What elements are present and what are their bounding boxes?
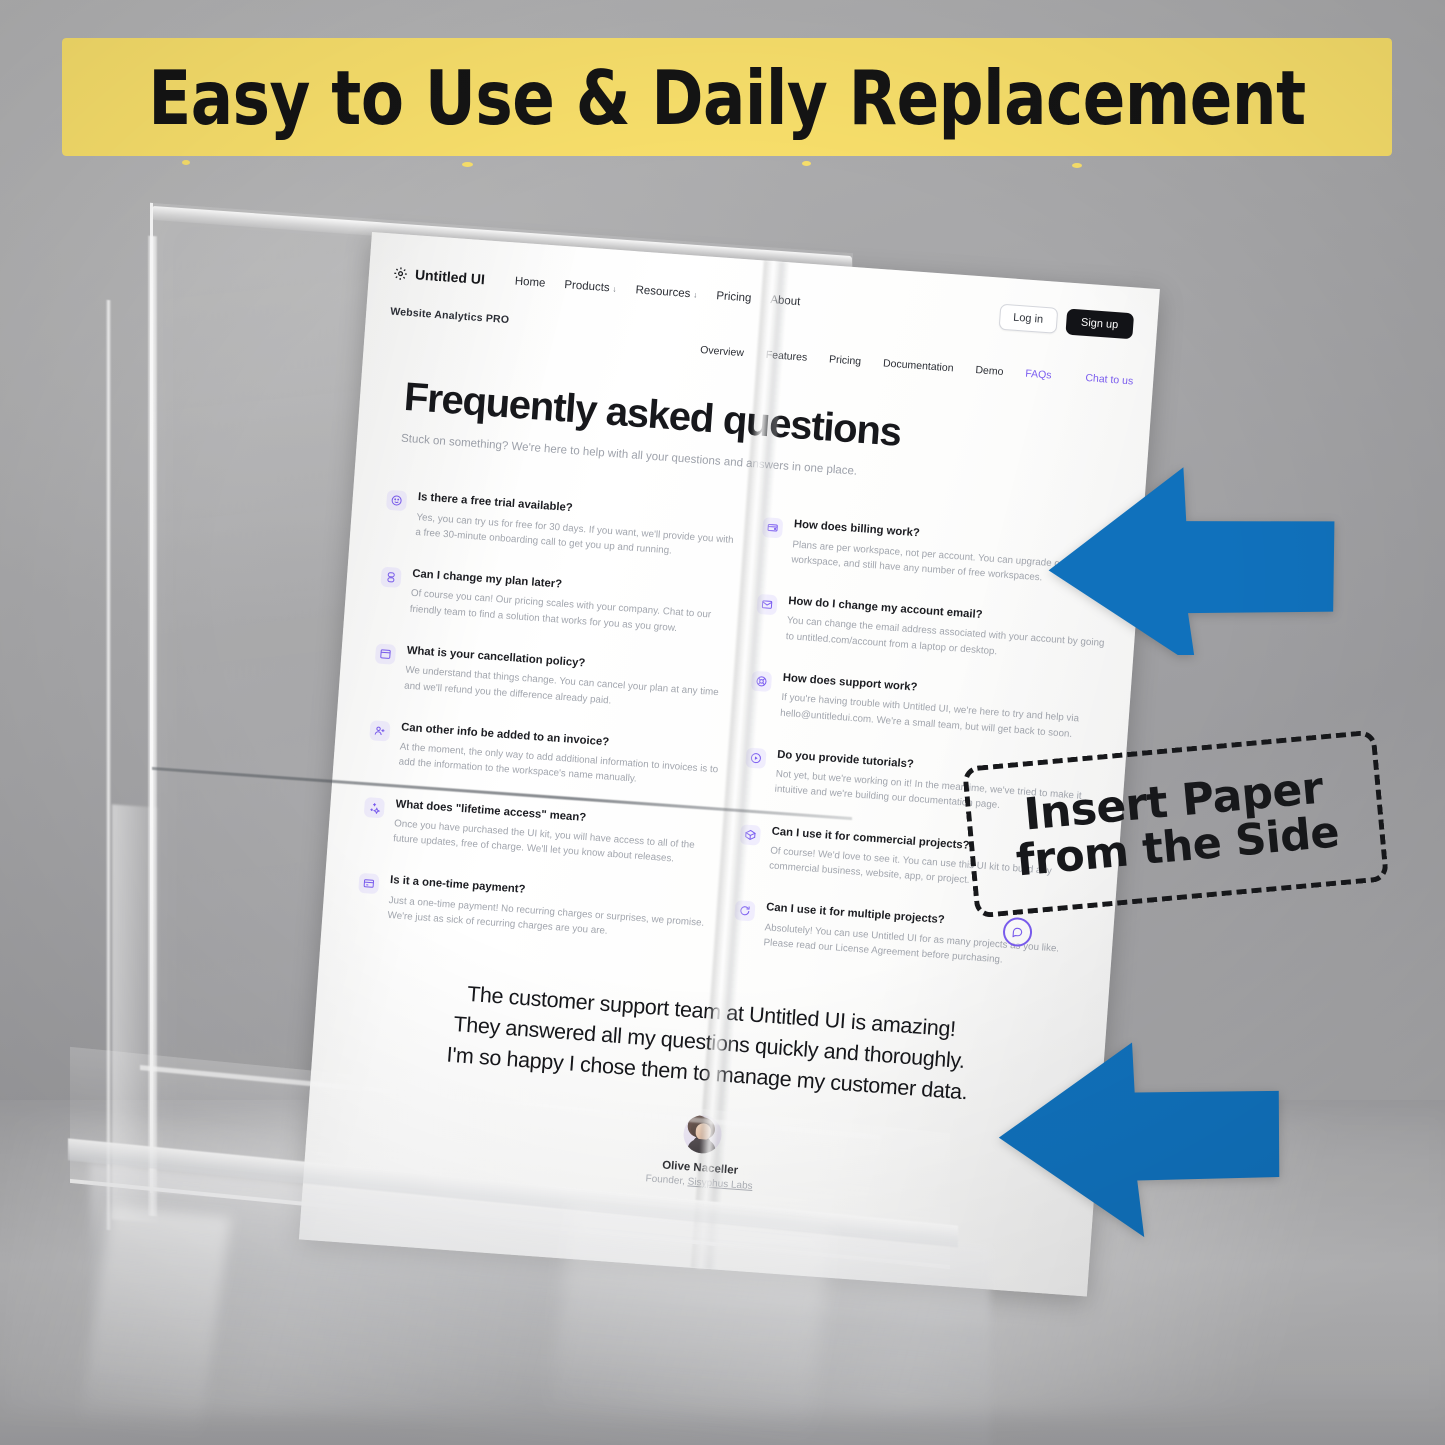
chevron-down-icon: ↓ — [693, 290, 698, 299]
subnav-item-faqs[interactable]: FAQs — [1025, 368, 1052, 382]
nav-item-about[interactable]: About — [770, 294, 801, 308]
faq-item[interactable]: How does support work? If you're having … — [749, 669, 1105, 743]
banner-speck — [1380, 94, 1387, 100]
nav-item-products[interactable]: Products↓ — [564, 279, 617, 295]
mail-icon — [756, 594, 777, 615]
faq-item[interactable]: Can other info be added to an invoice? A… — [367, 719, 723, 793]
faq-item[interactable]: Can I change my plan later? Of course yo… — [378, 565, 734, 639]
faq-column-left: Is there a free trial available? Yes, yo… — [354, 489, 739, 975]
wallet-icon — [762, 517, 783, 538]
brand-name: Untitled UI — [414, 266, 485, 287]
signup-button[interactable]: Sign up — [1065, 308, 1134, 339]
nav-label: About — [770, 294, 801, 308]
sparkle-icon — [364, 797, 385, 818]
login-button[interactable]: Log in — [998, 304, 1058, 334]
banner-speck — [80, 74, 89, 81]
refresh-icon — [734, 901, 755, 922]
subnav-item-pricing[interactable]: Pricing — [829, 353, 862, 367]
product-image-canvas: Easy to Use & Daily Replacement Untitled… — [0, 0, 1445, 1445]
browser-icon — [375, 643, 396, 664]
nav-label: Home — [514, 275, 545, 289]
nav-label: Resources — [635, 284, 691, 300]
faq-columns: Is there a free trial available? Yes, yo… — [354, 489, 1115, 1002]
nav-item-pricing[interactable]: Pricing — [716, 290, 752, 305]
card-icon — [358, 873, 379, 894]
headline-banner: Easy to Use & Daily Replacement — [62, 28, 1392, 168]
layers-icon — [380, 566, 401, 587]
nav-label: Pricing — [716, 290, 752, 305]
nav-item-home[interactable]: Home — [514, 275, 545, 289]
gear-logo-icon — [393, 265, 409, 281]
lifebuoy-icon — [751, 670, 772, 691]
faq-item[interactable]: Is it a one-time payment? Just a one-tim… — [356, 872, 712, 946]
floor-reflection-streak — [549, 1204, 832, 1441]
banner-speck — [68, 102, 74, 107]
headline-text: Easy to Use & Daily Replacement — [109, 28, 1346, 168]
subnav-item-demo[interactable]: Demo — [975, 364, 1004, 378]
faq-item[interactable]: What is your cancellation policy? We und… — [373, 642, 729, 716]
arrow-pointing-left-upper — [1040, 455, 1340, 655]
play-circle-icon — [745, 747, 766, 768]
nav-actions: Log in Sign up — [998, 304, 1134, 340]
nav-label: Products — [564, 279, 610, 294]
box-icon — [740, 824, 761, 845]
smiley-icon — [386, 490, 407, 511]
brand-logo[interactable]: Untitled UI — [393, 265, 486, 288]
banner-speck — [1357, 68, 1367, 76]
arrow-pointing-left-lower — [985, 1032, 1305, 1247]
nav-item-resources[interactable]: Resources↓ — [635, 284, 698, 300]
user-plus-icon — [369, 720, 390, 741]
faq-item[interactable]: What does "lifetime access" mean? Once y… — [362, 796, 718, 870]
chevron-down-icon: ↓ — [612, 284, 617, 293]
